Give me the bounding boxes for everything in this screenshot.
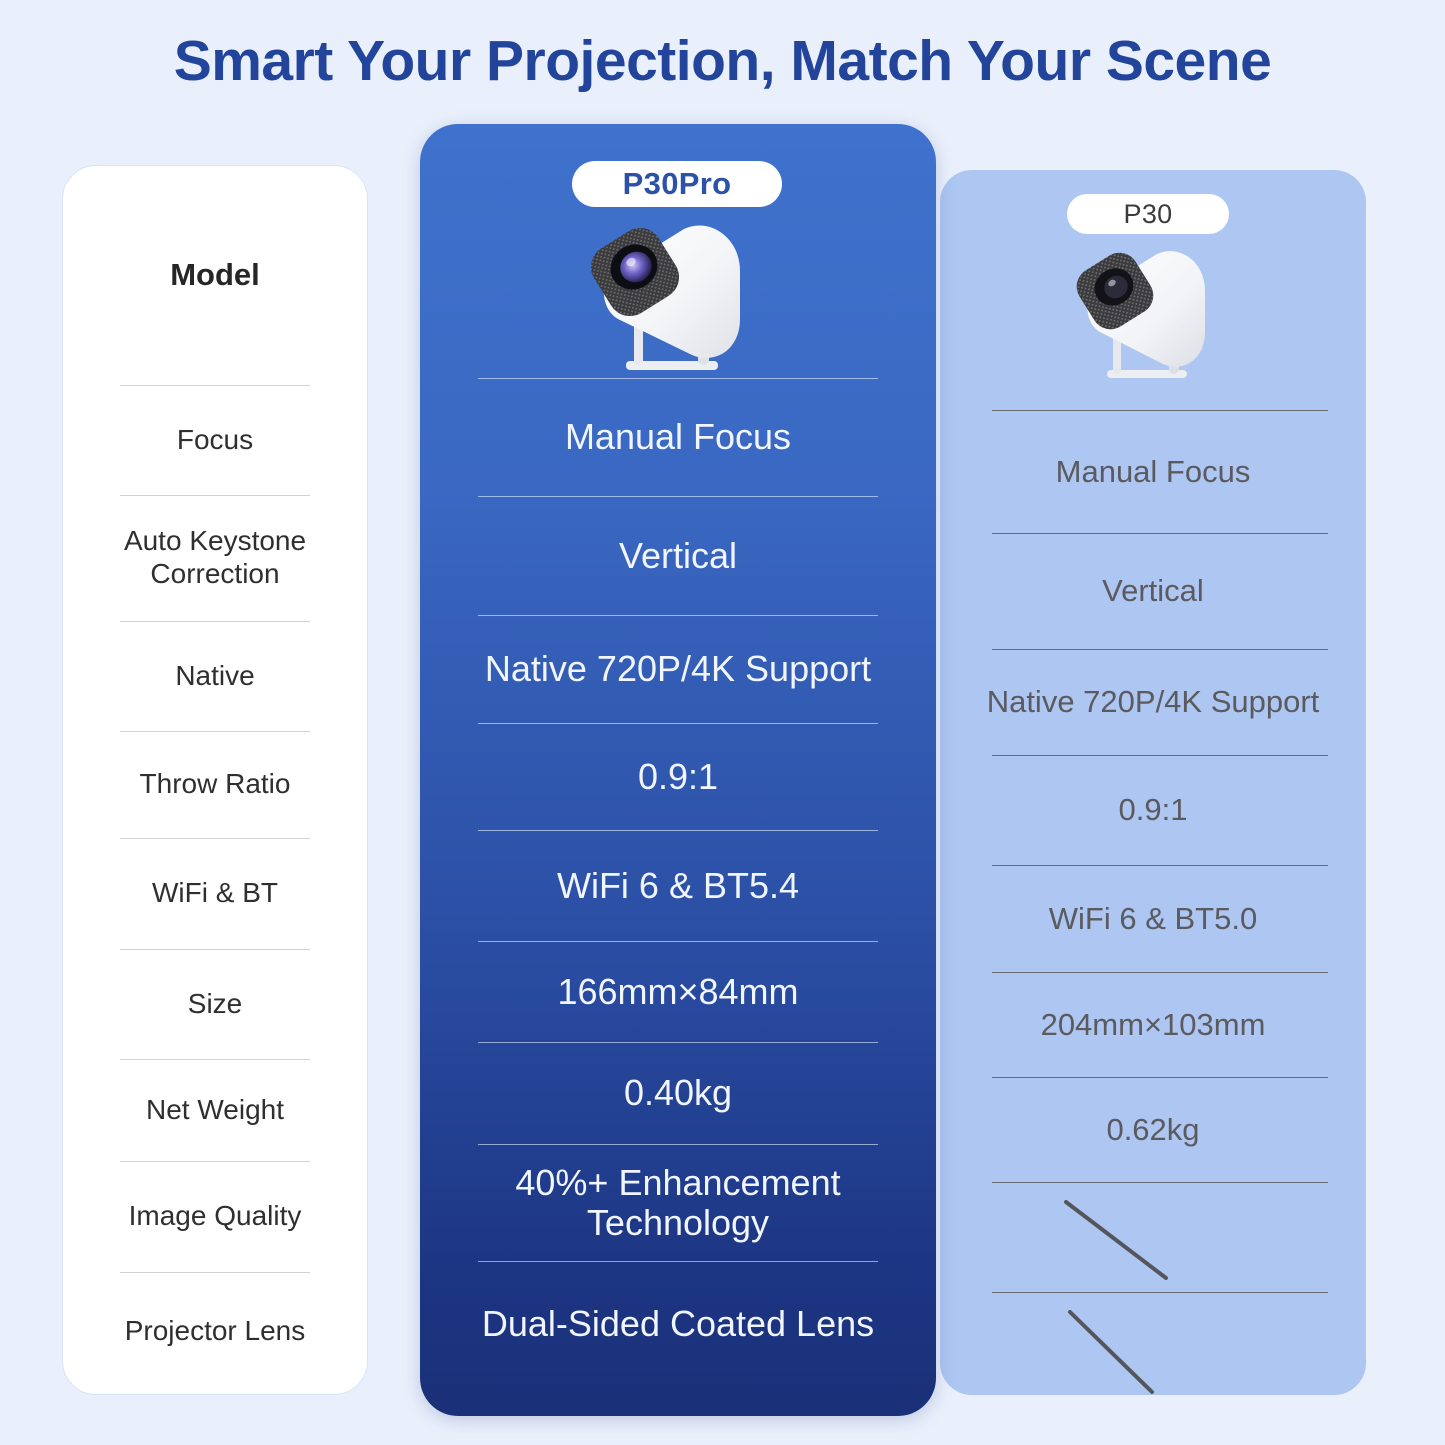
row-divider	[992, 865, 1328, 866]
row-divider	[478, 830, 878, 831]
p30-value-image-quality-unavailable	[940, 1182, 1366, 1292]
row-divider	[120, 1272, 310, 1273]
row-divider	[992, 755, 1328, 756]
spec-label-text: Net Weight	[146, 1094, 284, 1127]
p30-value-text: 0.9:1	[1119, 792, 1188, 828]
p30-value-net-weight: 0.62kg	[940, 1077, 1366, 1182]
row-divider	[478, 1042, 878, 1043]
row-divider	[478, 1261, 878, 1262]
p30pro-value-size: 166mm×84mm	[420, 941, 936, 1042]
row-divider	[120, 495, 310, 496]
unavailable-slash-icon	[940, 1292, 1366, 1405]
row-divider	[120, 838, 310, 839]
spec-header-label: Model	[170, 257, 260, 293]
p30pro-value-text: Native 720P/4K Support	[485, 649, 871, 689]
p30-value-wifi-bt: WiFi 6 & BT5.0	[940, 865, 1366, 972]
p30pro-value-text: 40%+ Enhancement Technology	[460, 1163, 896, 1242]
spec-label-throw-ratio: Throw Ratio	[62, 731, 368, 838]
p30-value-text: WiFi 6 & BT5.0	[1049, 901, 1257, 937]
p30pro-value-text: 166mm×84mm	[557, 972, 798, 1012]
row-divider	[992, 972, 1328, 973]
spec-label-text: Auto Keystone Correction	[62, 525, 368, 591]
p30pro-value-text: Dual-Sided Coated Lens	[482, 1304, 874, 1344]
p30pro-value-image-quality: 40%+ Enhancement Technology	[420, 1144, 936, 1261]
row-divider	[478, 1144, 878, 1145]
spec-label-image-quality: Image Quality	[62, 1161, 368, 1272]
row-divider	[992, 649, 1328, 650]
p30pro-value-focus: Manual Focus	[420, 378, 936, 496]
spec-label-net-weight: Net Weight	[62, 1059, 368, 1161]
spec-label-native: Native	[62, 621, 368, 731]
page-title: Smart Your Projection, Match Your Scene	[0, 28, 1445, 94]
unavailable-slash-icon	[940, 1182, 1366, 1292]
spec-label-text: Size	[188, 988, 242, 1021]
row-divider	[992, 1077, 1328, 1078]
spec-label-text: Native	[175, 660, 254, 693]
spec-label-wifi-bt: WiFi & BT	[62, 838, 368, 949]
p30pro-value-auto-keystone-correction: Vertical	[420, 496, 936, 615]
spec-column: Model Focus Auto Keystone Correction Nat…	[62, 165, 368, 1390]
spec-label-text: WiFi & BT	[152, 877, 278, 910]
p30-value-text: 204mm×103mm	[1041, 1007, 1266, 1043]
row-divider	[120, 1059, 310, 1060]
p30pro-value-text: Manual Focus	[565, 417, 791, 457]
spec-label-size: Size	[62, 949, 368, 1059]
spec-label-text: Focus	[177, 424, 253, 457]
p30pro-value-text: WiFi 6 & BT5.4	[557, 866, 799, 906]
p30pro-header-area	[420, 124, 936, 378]
p30-value-text: Vertical	[1102, 573, 1204, 609]
p30pro-value-net-weight: 0.40kg	[420, 1042, 936, 1144]
p30-value-text: Native 720P/4K Support	[987, 684, 1320, 720]
row-divider	[120, 731, 310, 732]
p30pro-value-text: 0.40kg	[624, 1073, 732, 1113]
p30-value-size: 204mm×103mm	[940, 972, 1366, 1077]
p30pro-value-text: 0.9:1	[638, 757, 718, 797]
row-divider	[992, 410, 1328, 411]
row-divider	[478, 941, 878, 942]
p30-value-text: 0.62kg	[1106, 1112, 1199, 1148]
row-divider	[478, 723, 878, 724]
spec-label-focus: Focus	[62, 385, 368, 495]
p30-value-projector-lens-unavailable	[940, 1292, 1366, 1405]
spec-label-projector-lens: Projector Lens	[62, 1272, 368, 1390]
p30pro-value-text: Vertical	[619, 536, 737, 576]
row-divider	[478, 615, 878, 616]
spec-label-text: Throw Ratio	[140, 768, 291, 801]
p30-value-native: Native 720P/4K Support	[940, 649, 1366, 755]
row-divider	[992, 533, 1328, 534]
row-divider	[120, 621, 310, 622]
spec-header-model: Model	[62, 165, 368, 385]
row-divider	[478, 378, 878, 379]
p30-value-throw-ratio: 0.9:1	[940, 755, 1366, 865]
spec-label-text: Projector Lens	[125, 1315, 306, 1348]
row-divider	[120, 385, 310, 386]
p30pro-column: Manual Focus Vertical Native 720P/4K Sup…	[420, 124, 936, 1386]
p30pro-value-native: Native 720P/4K Support	[420, 615, 936, 723]
p30pro-value-throw-ratio: 0.9:1	[420, 723, 936, 830]
spec-label-text: Image Quality	[129, 1200, 302, 1233]
p30-value-auto-keystone-correction: Vertical	[940, 533, 1366, 649]
row-divider	[120, 1161, 310, 1162]
p30-header-area	[940, 170, 1366, 410]
spec-label-auto-keystone-correction: Auto Keystone Correction	[62, 495, 368, 621]
p30-value-text: Manual Focus	[1056, 454, 1251, 490]
p30-value-focus: Manual Focus	[940, 410, 1366, 533]
row-divider	[478, 496, 878, 497]
p30pro-value-wifi-bt: WiFi 6 & BT5.4	[420, 830, 936, 941]
row-divider	[120, 949, 310, 950]
p30pro-value-projector-lens: Dual-Sided Coated Lens	[420, 1261, 936, 1386]
p30-column: Manual Focus Vertical Native 720P/4K Sup…	[940, 170, 1366, 1405]
